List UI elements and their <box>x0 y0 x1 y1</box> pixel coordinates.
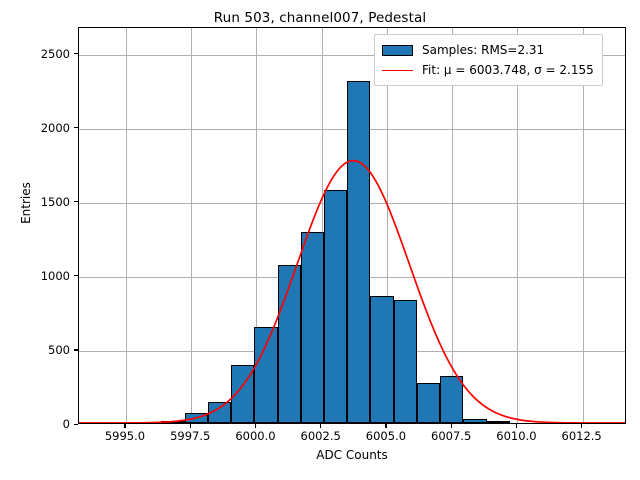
histogram-bar <box>487 421 510 423</box>
y-tick-label: 2500 <box>41 47 70 61</box>
histogram-bar <box>254 327 277 423</box>
x-tick-label: 6000.0 <box>235 429 275 443</box>
y-tick-label: 0 <box>63 417 70 431</box>
histogram-bar <box>161 421 184 423</box>
x-tick-mark <box>516 424 517 428</box>
histogram-bar <box>301 232 324 423</box>
y-tick-mark <box>74 201 78 202</box>
y-tick-mark <box>74 275 78 276</box>
gridline-vertical <box>191 28 192 423</box>
y-tick-label: 2000 <box>41 121 70 135</box>
x-tick-mark <box>385 424 386 428</box>
x-tick-label: 6002.5 <box>301 429 341 443</box>
x-tick-label: 6012.5 <box>562 429 602 443</box>
x-tick-mark <box>190 424 191 428</box>
gridline-vertical <box>452 28 453 423</box>
legend-line-icon <box>382 70 413 71</box>
legend-item-samples: Samples: RMS=2.31 <box>382 40 594 60</box>
plot-area <box>78 27 626 424</box>
histogram-bar <box>347 81 370 423</box>
x-tick-mark <box>320 424 321 428</box>
histogram-bar <box>463 419 486 423</box>
y-tick-label: 1000 <box>41 269 70 283</box>
x-axis-label: ADC Counts <box>78 448 626 462</box>
histogram-bar <box>185 413 208 423</box>
legend-label-samples: Samples: RMS=2.31 <box>422 43 544 57</box>
histogram-bar <box>208 402 231 423</box>
legend-item-fit: Fit: μ = 6003.748, σ = 2.155 <box>382 60 594 80</box>
gridline-vertical <box>517 28 518 423</box>
x-tick-mark <box>255 424 256 428</box>
x-tick-label: 6005.0 <box>366 429 406 443</box>
x-tick-label: 6010.0 <box>496 429 536 443</box>
legend-patch-icon <box>382 45 413 56</box>
gridline-vertical <box>126 28 127 423</box>
histogram-bar <box>440 376 463 423</box>
histogram-bar <box>394 300 417 423</box>
legend-label-fit: Fit: μ = 6003.748, σ = 2.155 <box>422 63 594 77</box>
histogram-bar <box>324 190 347 423</box>
x-tick-mark <box>451 424 452 428</box>
y-tick-mark <box>74 53 78 54</box>
y-tick-mark <box>74 424 78 425</box>
histogram-figure: Run 503, channel007, Pedestal 0500100015… <box>0 0 640 480</box>
legend: Samples: RMS=2.31 Fit: μ = 6003.748, σ =… <box>374 34 603 86</box>
histogram-bar <box>370 296 393 423</box>
y-tick-label: 1500 <box>41 195 70 209</box>
histogram-bar <box>417 383 440 423</box>
y-tick-label: 500 <box>48 343 70 357</box>
x-tick-mark <box>581 424 582 428</box>
x-tick-mark <box>124 424 125 428</box>
x-tick-label: 5997.5 <box>170 429 210 443</box>
x-tick-label: 5995.0 <box>105 429 145 443</box>
x-tick-label: 6007.5 <box>431 429 471 443</box>
chart-title: Run 503, channel007, Pedestal <box>0 10 640 26</box>
y-tick-mark <box>74 127 78 128</box>
gridline-vertical <box>583 28 584 423</box>
histogram-bar <box>231 365 254 423</box>
y-tick-mark <box>74 349 78 350</box>
histogram-bar <box>278 265 301 423</box>
y-axis-label: Entries <box>19 103 33 303</box>
